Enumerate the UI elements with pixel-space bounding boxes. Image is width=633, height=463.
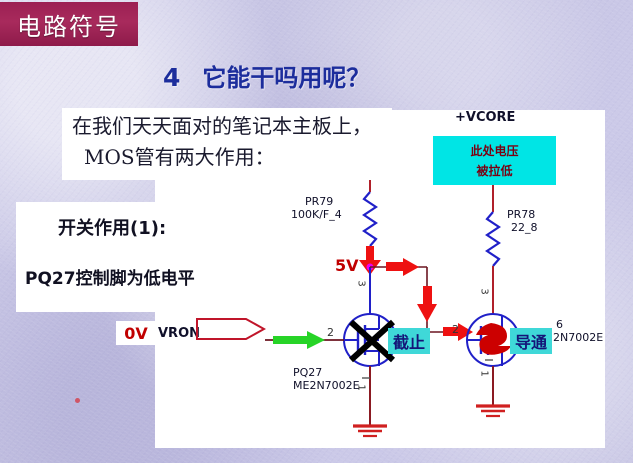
rail-label-vcore: +VCORE: [455, 110, 515, 125]
mosfet-q2-pin-3: 3: [479, 288, 490, 294]
net-label-vron: VRON: [158, 326, 200, 341]
mosfet-q1-state-badge: 截止: [388, 328, 430, 354]
route-arrow-2: [417, 286, 437, 322]
mosfet-q2-pin-6: 6: [556, 318, 563, 331]
ground-symbol-left: [353, 426, 387, 436]
decorative-dot: [75, 398, 80, 403]
intro-text-box: 在我们天天面对的笔记本主板上， MOS管有两大作用：: [62, 108, 392, 180]
mosfet-q1-part: ME2N7002E: [293, 379, 360, 392]
gate-green-arrow: [273, 331, 325, 349]
page-title: 4 它能干吗用呢？: [163, 58, 370, 93]
node-label-5v: 5V: [335, 256, 359, 275]
voltage-label-0v: 0V: [124, 324, 148, 343]
mosfet-q1-pin-2: 2: [327, 326, 334, 339]
resistor-ref-pr79: PR79: [305, 195, 333, 208]
resistor-value-pr79: 100K/F_4: [291, 208, 342, 221]
resistor-ref-pr78: PR78: [507, 208, 535, 221]
page-title-text: 它能干吗用呢？: [202, 58, 370, 93]
callout-box: 此处电压 被拉低: [433, 136, 556, 185]
route-arrow-1: [386, 258, 419, 276]
mosfet-q1-pin-3: 3: [356, 280, 367, 286]
callout-line-2: 被拉低: [476, 162, 512, 179]
net-flag-shape: [196, 318, 266, 340]
switch-function-box: 开关作用(1): PQ27控制脚为低电平: [16, 202, 234, 312]
intro-line-2: MOS管有两大作用：: [84, 141, 275, 170]
mosfet-q2-pin-1: 1: [479, 370, 490, 376]
mosfet-q2-state-badge: 导通: [510, 328, 552, 354]
intro-line-1: 在我们天天面对的笔记本主板上，: [72, 110, 372, 139]
voltage-label-box: 0V: [116, 321, 156, 345]
section-badge: 电路符号: [0, 2, 138, 46]
switch-function-body: PQ27控制脚为低电平: [25, 264, 195, 289]
mosfet-q1-pin-1: 1: [356, 384, 367, 390]
resistor-value-pr78: 22_8: [511, 221, 538, 234]
mosfet-q2-part: 2N7002E: [553, 331, 603, 344]
switch-function-title: 开关作用(1):: [58, 214, 166, 240]
mosfet-q2-pin-2: 2: [452, 323, 459, 336]
callout-line-1: 此处电压: [470, 142, 518, 159]
ground-symbol-right: [476, 406, 510, 416]
mosfet-q1-ref: PQ27: [293, 366, 322, 379]
page-title-number: 4: [163, 63, 180, 92]
section-badge-label: 电路符号: [17, 7, 121, 42]
